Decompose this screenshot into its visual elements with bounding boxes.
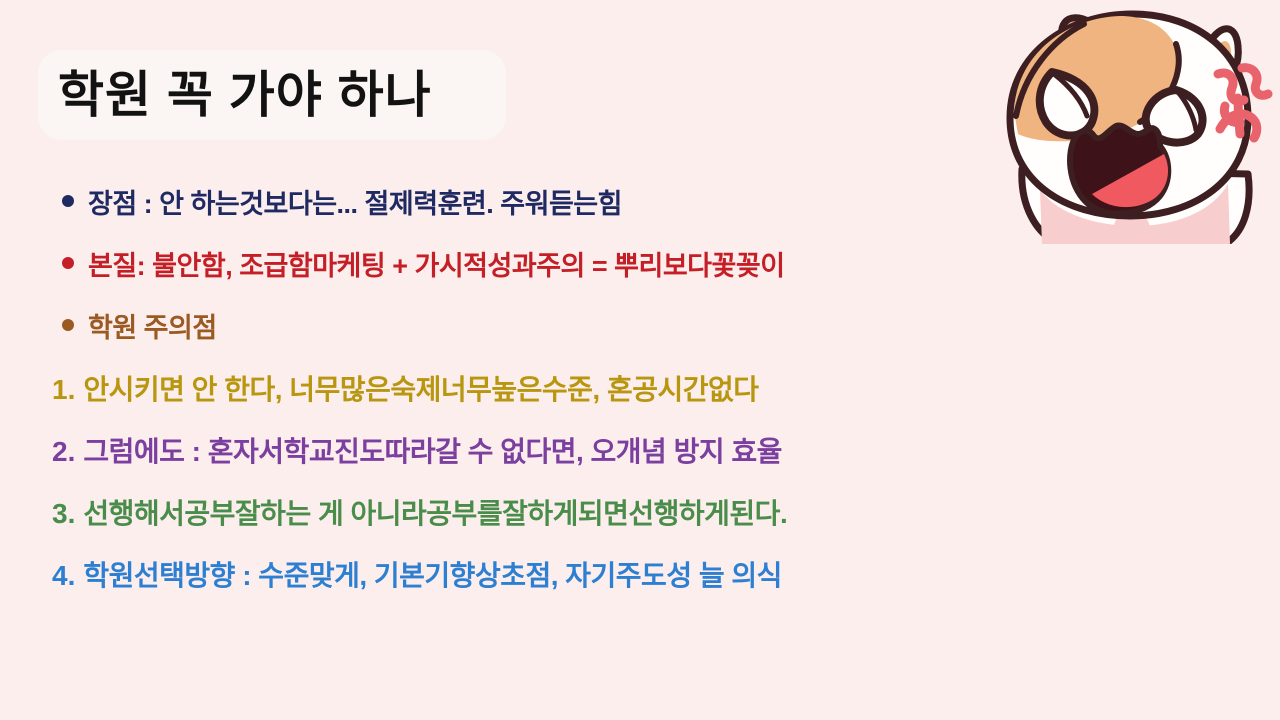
list-item-text: 본질: 불안함, 조급함마케팅 + 가시적성과주의 = 뿌리보다꽃꽂이 — [88, 244, 785, 283]
list-item: 4. 학원선택방향 : 수준맞게, 기본기향상초점, 자기주도성 늘 의식 — [52, 554, 1162, 616]
list-item-text: 안시키면 안 한다, 너무많은숙제너무높은수준, 혼공시간없다 — [83, 368, 758, 408]
page-title: 학원 꼭 가야 하나 — [58, 70, 432, 120]
list-item-number: 4. — [52, 560, 75, 592]
bullet-dot-icon — [62, 257, 74, 269]
list-item: 학원 주의점 — [52, 306, 1162, 368]
list-item-text: 선행해서공부잘하는 게 아니라공부를잘하게되면선행하게된다. — [83, 492, 787, 532]
list-item-number: 2. — [52, 436, 75, 468]
bullet-dot-icon — [62, 195, 74, 207]
list-item: 1. 안시키면 안 한다, 너무많은숙제너무높은수준, 혼공시간없다 — [52, 368, 1162, 430]
list-item-text: 장점 : 안 하는것보다는... 절제력훈련. 주워듣는힘 — [88, 182, 622, 221]
content-list: 장점 : 안 하는것보다는... 절제력훈련. 주워듣는힘 본질: 불안함, 조… — [52, 182, 1162, 616]
bullet-dot-icon — [62, 319, 74, 331]
list-item-text: 그럼에도 : 혼자서학교진도따라갈 수 없다면, 오개념 방지 효율 — [83, 430, 782, 470]
list-item-text: 학원선택방향 : 수준맞게, 기본기향상초점, 자기주도성 늘 의식 — [83, 554, 782, 594]
list-item: 2. 그럼에도 : 혼자서학교진도따라갈 수 없다면, 오개념 방지 효율 — [52, 430, 1162, 492]
list-item: 본질: 불안함, 조급함마케팅 + 가시적성과주의 = 뿌리보다꽃꽂이 — [52, 244, 1162, 306]
list-item: 장점 : 안 하는것보다는... 절제력훈련. 주워듣는힘 — [52, 182, 1162, 244]
list-item-number: 1. — [52, 374, 75, 406]
list-item-number: 3. — [52, 498, 75, 530]
title-pill: 학원 꼭 가야 하나 — [38, 50, 506, 140]
anger-vein-icon — [1218, 68, 1268, 138]
slide-canvas: 학원 꼭 가야 하나 장점 : 안 하는것보다는... 절제력훈련. 주워듣는힘… — [0, 0, 1280, 720]
list-item-text: 학원 주의점 — [88, 306, 217, 345]
list-item: 3. 선행해서공부잘하는 게 아니라공부를잘하게되면선행하게된다. — [52, 492, 1162, 554]
